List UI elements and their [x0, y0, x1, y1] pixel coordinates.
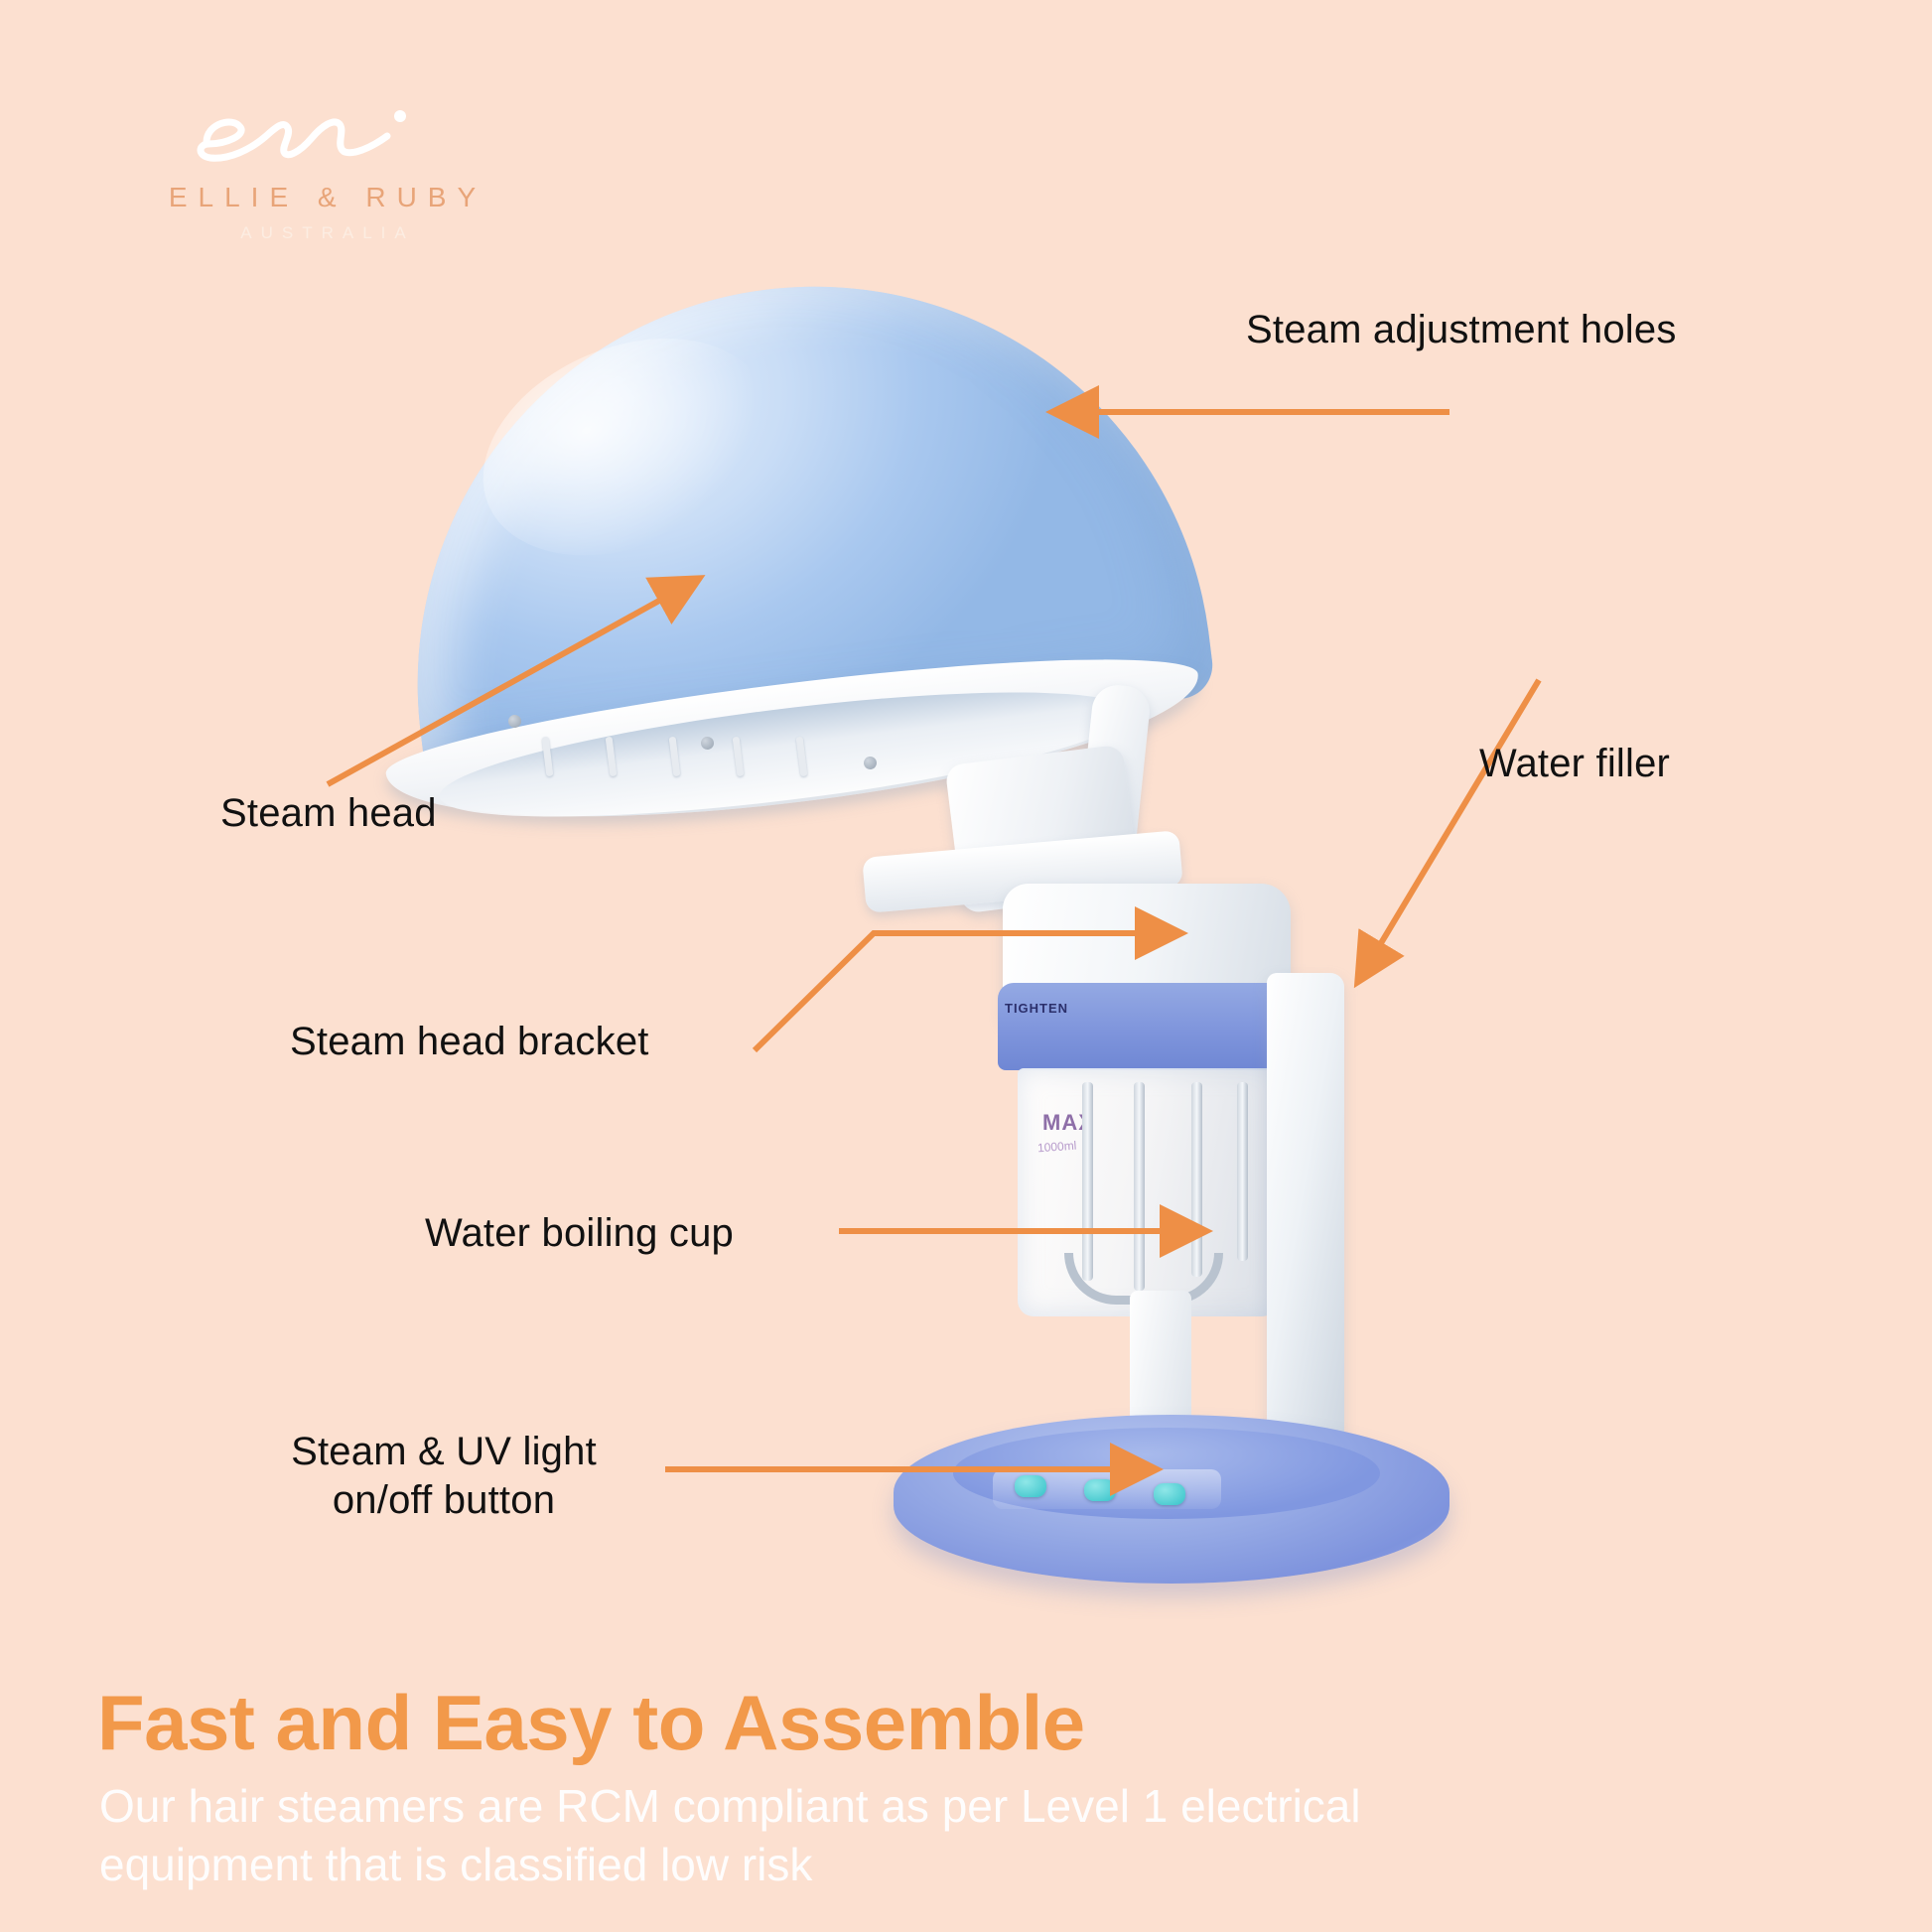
label-steam-head: Steam head [220, 789, 437, 838]
label-steam-uv-line2: on/off button [333, 1478, 555, 1522]
logo-brand-name: ELLIE & RUBY [129, 182, 526, 213]
steam-on-off-button[interactable] [1015, 1475, 1046, 1497]
dome-highlight [450, 298, 801, 597]
label-steam-adjustment-holes: Steam adjustment holes [1246, 306, 1677, 354]
cup-volume-marking: 1000ml [1037, 1139, 1077, 1156]
label-steam-uv-line1: Steam & UV light [291, 1430, 597, 1473]
brand-logo: ELLIE & RUBY AUSTRALIA [129, 94, 526, 253]
label-water-boiling-cup: Water boiling cup [425, 1209, 734, 1258]
uv-light-button[interactable] [1084, 1479, 1116, 1501]
footer-body-line2: equipment that is classified low risk [99, 1839, 812, 1890]
label-steam-head-bracket: Steam head bracket [290, 1018, 649, 1066]
cup-collar [998, 983, 1296, 1070]
collar-tighten-text: TIGHTEN [1005, 1001, 1203, 1016]
footer-body-line1: Our hair steamers are RCM compliant as p… [99, 1780, 1361, 1832]
footer-headline: Fast and Easy to Assemble [97, 1678, 1085, 1768]
product-illustration: TIGHTEN MAX 1000ml [397, 288, 1569, 1598]
footer-body: Our hair steamers are RCM compliant as p… [99, 1777, 1688, 1894]
label-steam-uv-button: Steam & UV light on/off button [250, 1428, 637, 1525]
label-water-filler: Water filler [1479, 740, 1670, 788]
back-column [1267, 973, 1344, 1459]
logo-country: AUSTRALIA [129, 223, 526, 243]
power-button[interactable] [1154, 1483, 1185, 1505]
infographic-canvas: ELLIE & RUBY AUSTRALIA TIGHTEN MAX 1000m… [0, 0, 1932, 1932]
logo-script-mark [189, 94, 447, 174]
